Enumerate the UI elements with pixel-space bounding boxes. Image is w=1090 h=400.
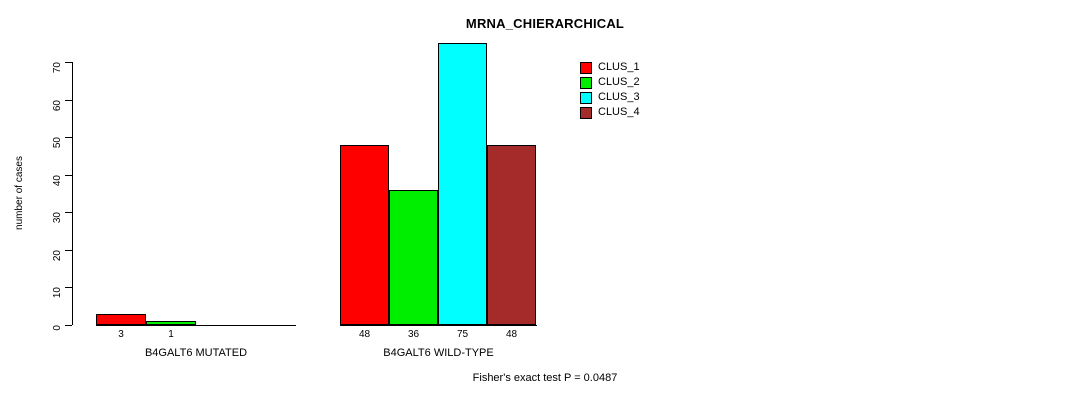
y-axis-title: number of cases — [15, 133, 25, 253]
legend-swatch-icon — [580, 77, 592, 89]
y-tick-label: 40 — [53, 175, 63, 215]
footer-annotation: Fisher's exact test P = 0.0487 — [0, 372, 1090, 384]
bar-clus_1[interactable] — [340, 145, 389, 325]
y-tick-label: 0 — [53, 325, 63, 365]
legend-item[interactable]: CLUS_4 — [580, 105, 640, 120]
bar-group: 48367548B4GALT6 WILD-TYPE — [340, 62, 537, 325]
legend-swatch-icon — [580, 92, 592, 104]
group-baseline — [96, 325, 296, 326]
y-tick-label: 50 — [53, 137, 63, 177]
y-tick-label: 70 — [53, 62, 63, 102]
chart-canvas: MRNA_CHIERARCHICAL 010203040506070 numbe… — [0, 0, 1090, 400]
legend-item[interactable]: CLUS_1 — [580, 60, 640, 75]
group-label: B4GALT6 WILD-TYPE — [340, 348, 537, 359]
legend-label: CLUS_3 — [598, 92, 640, 103]
legend-label: CLUS_4 — [598, 107, 640, 118]
bar-group: 31B4GALT6 MUTATED — [96, 62, 296, 325]
legend-swatch-icon — [580, 62, 592, 74]
legend-label: CLUS_1 — [598, 62, 640, 73]
y-tick-mark — [65, 62, 72, 63]
bar-clus_4[interactable] — [487, 145, 536, 325]
chart-title: MRNA_CHIERARCHICAL — [0, 16, 1090, 31]
bar-clus_2[interactable] — [146, 321, 196, 325]
bar-clus_1[interactable] — [96, 314, 146, 325]
bar-value-label: 48 — [487, 330, 536, 340]
y-tick-mark — [65, 325, 72, 326]
legend-swatch-icon — [580, 107, 592, 119]
y-tick-label: 20 — [53, 250, 63, 290]
bar-value-label: 1 — [146, 330, 196, 340]
bar-value-label: 36 — [389, 330, 438, 340]
y-axis-line — [72, 62, 73, 325]
y-tick-label: 10 — [53, 287, 63, 327]
bar-clus_3[interactable] — [438, 43, 487, 325]
y-tick-label: 60 — [53, 100, 63, 140]
bar-value-label: 75 — [438, 330, 487, 340]
y-tick-mark — [65, 175, 72, 176]
group-label: B4GALT6 MUTATED — [96, 348, 296, 359]
legend-label: CLUS_2 — [598, 77, 640, 88]
y-tick-mark — [65, 137, 72, 138]
bar-value-label: 48 — [340, 330, 389, 340]
y-tick-mark — [65, 287, 72, 288]
y-tick-mark — [65, 212, 72, 213]
bar-value-label: 3 — [96, 330, 146, 340]
legend-item[interactable]: CLUS_3 — [580, 90, 640, 105]
y-tick-label: 30 — [53, 212, 63, 252]
legend: CLUS_1CLUS_2CLUS_3CLUS_4 — [580, 60, 640, 120]
bar-clus_2[interactable] — [389, 190, 438, 325]
legend-item[interactable]: CLUS_2 — [580, 75, 640, 90]
y-tick-mark — [65, 100, 72, 101]
y-tick-mark — [65, 250, 72, 251]
group-baseline — [340, 325, 537, 326]
